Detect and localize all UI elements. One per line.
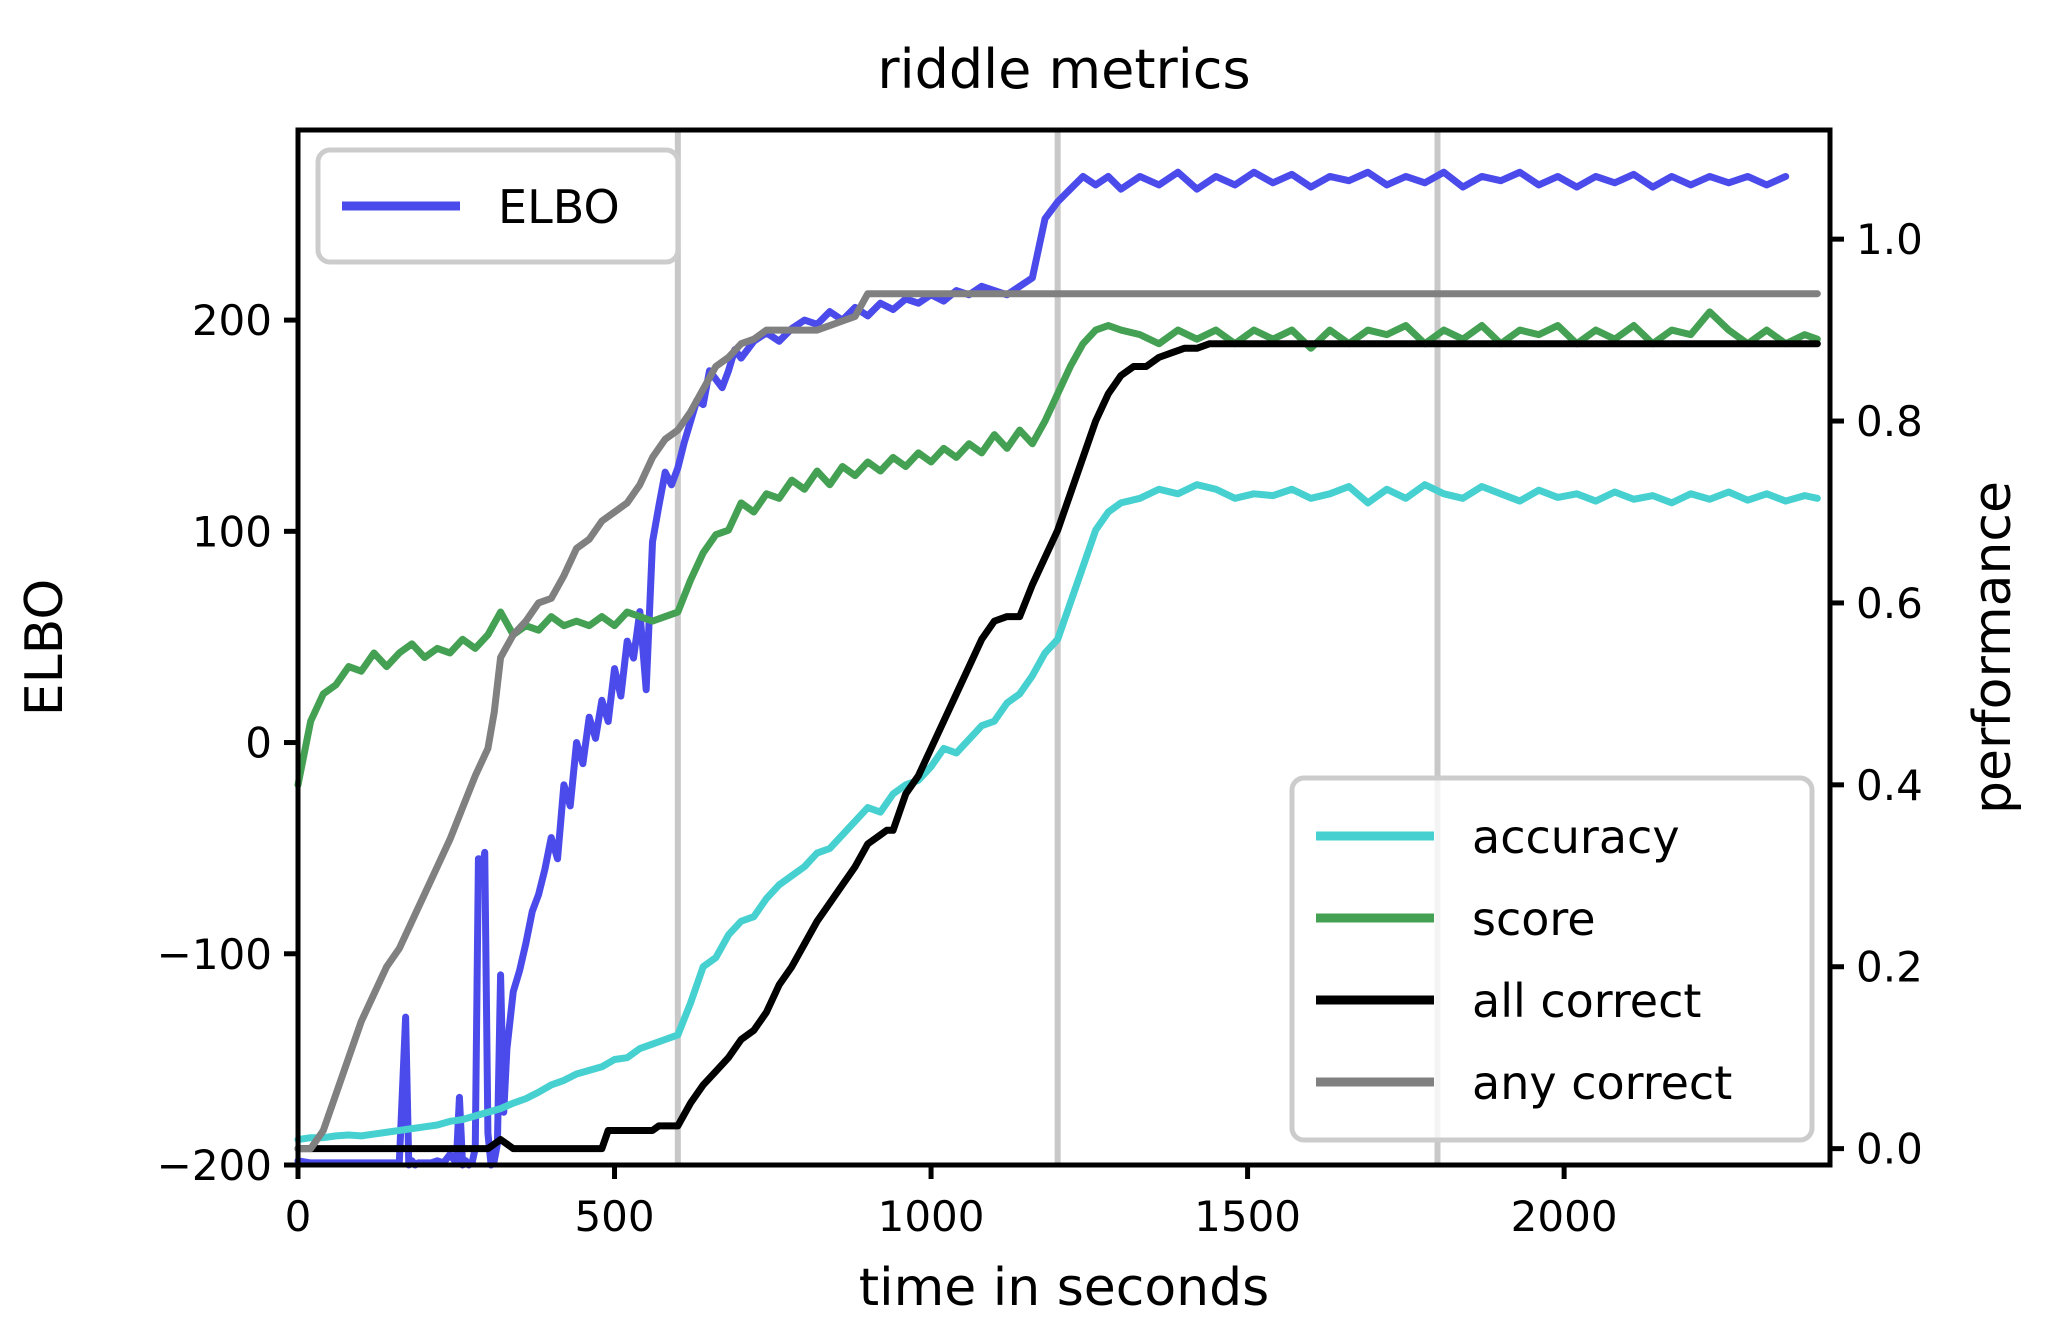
x-tick-label: 500 [574, 1192, 654, 1241]
chart-title: riddle metrics [877, 38, 1250, 101]
legend-performance-label-any-correct: any correct [1472, 1056, 1732, 1110]
legend-elbo-label-ELBO: ELBO [498, 180, 620, 234]
y2-axis-title: performance [1963, 481, 2023, 814]
x-tick-label: 2000 [1511, 1192, 1618, 1241]
legend-elbo[interactable]: ELBO [318, 150, 678, 262]
y2-tick-label: 0.0 [1856, 1125, 1923, 1174]
x-tick-label: 1000 [878, 1192, 985, 1241]
y-tick-label: 0 [245, 719, 272, 768]
y2-tick-label: 0.4 [1856, 761, 1923, 810]
y-tick-label: 200 [192, 296, 272, 345]
y2-tick-label: 1.0 [1856, 215, 1923, 264]
legend-performance-label-accuracy: accuracy [1472, 810, 1680, 864]
legend-performance-label-all-correct: all correct [1472, 974, 1701, 1028]
y-tick-label: −100 [157, 930, 272, 979]
y-axis-title: ELBO [15, 579, 75, 717]
x-tick-label: 0 [285, 1192, 312, 1241]
riddle-metrics-chart: 0500100015002000−200−10001002000.00.20.4… [0, 0, 2068, 1344]
x-axis-title: time in seconds [859, 1258, 1270, 1318]
legend-performance-label-score: score [1472, 892, 1596, 946]
y2-tick-label: 0.6 [1856, 579, 1923, 628]
y-tick-label: 100 [192, 507, 272, 556]
x-tick-label: 1500 [1194, 1192, 1301, 1241]
y2-tick-label: 0.8 [1856, 397, 1923, 446]
figure-canvas: 0500100015002000−200−10001002000.00.20.4… [0, 0, 2068, 1344]
y-tick-label: −200 [157, 1141, 272, 1190]
legend-performance[interactable]: accuracyscoreall correctany correct [1292, 778, 1812, 1140]
y2-tick-label: 0.2 [1856, 943, 1923, 992]
